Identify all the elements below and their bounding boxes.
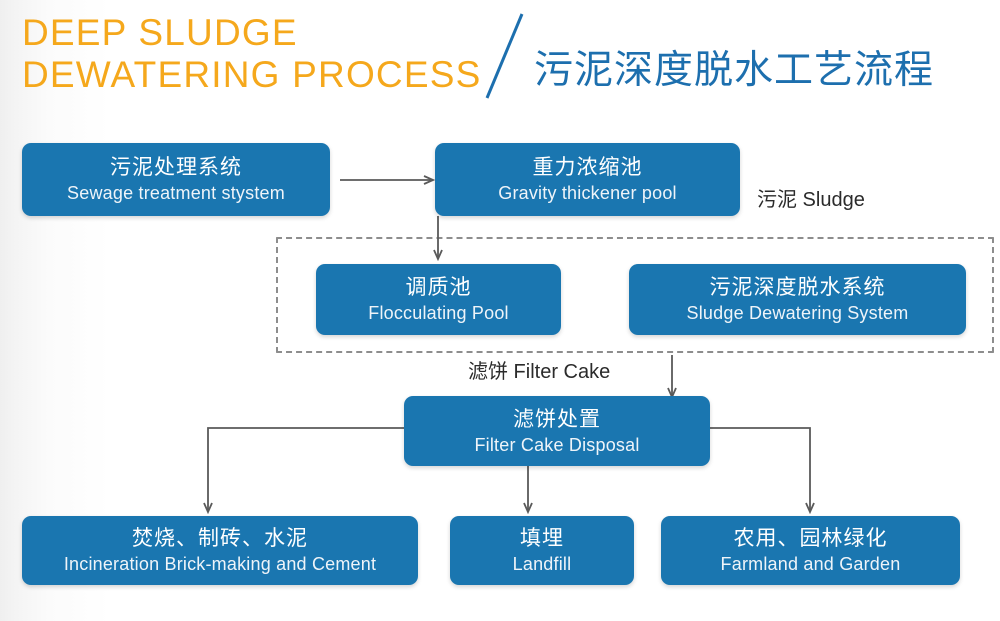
edge-label-sludge: 污泥 Sludge [757, 188, 865, 212]
node-label-cn: 污泥处理系统 [110, 154, 242, 181]
edge-label-filter-cake: 滤饼 Filter Cake [468, 360, 610, 384]
node-label-cn: 填埋 [520, 525, 564, 552]
arrow-disposal-to-farmland [710, 428, 810, 511]
arrow-disposal-to-incineration [208, 428, 404, 511]
node-label-en: Flocculating Pool [368, 301, 508, 325]
node-label-cn: 焚烧、制砖、水泥 [132, 525, 308, 552]
node-label-en: Gravity thickener pool [498, 181, 676, 205]
page-header: DEEP SLUDGEDEWATERING PROCESS 污泥深度脱水工艺流程 [0, 0, 1000, 118]
node-sewage-treatment-system[interactable]: 污泥处理系统 Sewage treatment stystem [22, 143, 330, 216]
page-title-chinese: 污泥深度脱水工艺流程 [534, 48, 934, 94]
node-farmland-and-garden[interactable]: 农用、园林绿化 Farmland and Garden [661, 516, 960, 585]
node-sludge-dewatering-system[interactable]: 污泥深度脱水系统 Sludge Dewatering System [629, 264, 966, 335]
node-label-en: Incineration Brick-making and Cement [64, 552, 376, 576]
node-label-en: Farmland and Garden [721, 552, 901, 576]
node-incineration-brick-cement[interactable]: 焚烧、制砖、水泥 Incineration Brick-making and C… [22, 516, 418, 585]
node-label-cn: 调质池 [406, 274, 472, 301]
node-label-en: Sludge Dewatering System [687, 301, 909, 325]
node-label-cn: 滤饼处置 [513, 406, 601, 433]
flowchart-canvas: DEEP SLUDGEDEWATERING PROCESS 污泥深度脱水工艺流程… [0, 0, 1000, 621]
title-en-line1: DEEP SLUDGE [22, 12, 298, 53]
node-label-cn: 农用、园林绿化 [734, 525, 888, 552]
node-filter-cake-disposal[interactable]: 滤饼处置 Filter Cake Disposal [404, 396, 710, 466]
title-en-line2: DEWATERING PROCESS [22, 54, 481, 95]
node-flocculating-pool[interactable]: 调质池 Flocculating Pool [316, 264, 561, 335]
slash-divider-icon [482, 10, 528, 102]
node-label-cn: 污泥深度脱水系统 [710, 274, 886, 301]
node-landfill[interactable]: 填埋 Landfill [450, 516, 634, 585]
node-label-en: Filter Cake Disposal [474, 433, 639, 457]
node-gravity-thickener-pool[interactable]: 重力浓缩池 Gravity thickener pool [435, 143, 740, 216]
page-title-english: DEEP SLUDGEDEWATERING PROCESS [22, 12, 481, 96]
node-label-en: Landfill [513, 552, 572, 576]
node-label-cn: 重力浓缩池 [533, 154, 643, 181]
node-label-en: Sewage treatment stystem [67, 181, 285, 205]
